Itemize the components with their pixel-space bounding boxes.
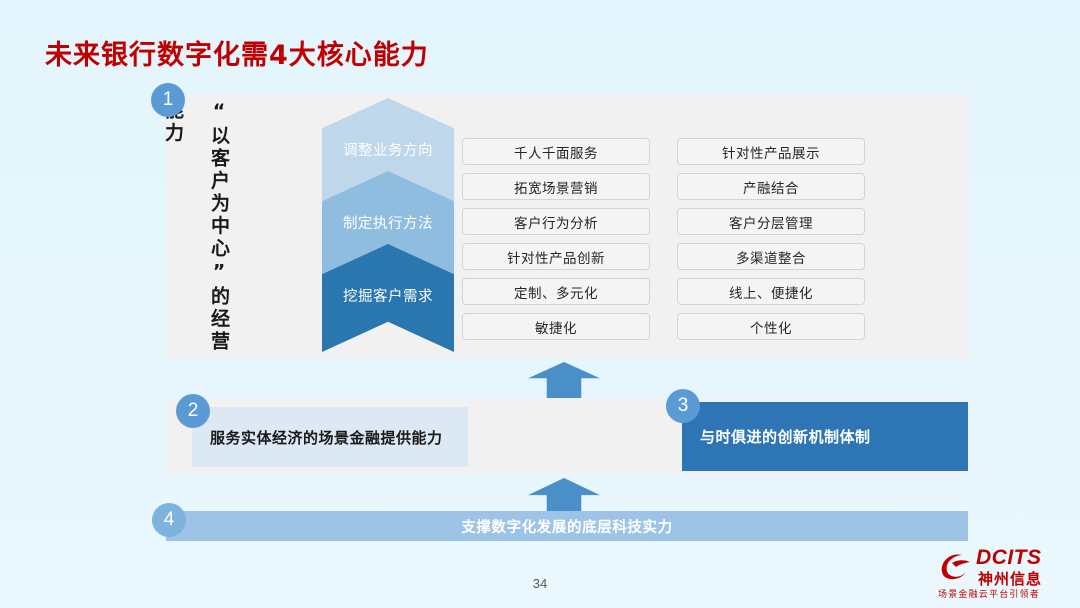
up-arrow-icon-middle bbox=[528, 362, 600, 398]
section2-label: 服务实体经济的场景金融提供能力 bbox=[210, 427, 443, 448]
capability-pill: 拓宽场景营销 bbox=[462, 173, 650, 200]
capability-pill: 针对性产品创新 bbox=[462, 243, 650, 270]
page-title: 未来银行数字化需4大核心能力 bbox=[45, 33, 429, 72]
dcits-logo: DCITS 神州信息 场景金融云平台引领者 bbox=[936, 544, 1068, 600]
slide-canvas: 未来银行数字化需4大核心能力 1 “以客户为中心”的经营能力 调整业务方向 制定… bbox=[0, 0, 1080, 608]
capability-column-right: 针对性产品展示 产融结合 客户分层管理 多渠道整合 线上、便捷化 个性化 bbox=[677, 138, 865, 348]
capability-pill: 个性化 bbox=[677, 313, 865, 340]
capability-pill: 针对性产品展示 bbox=[677, 138, 865, 165]
page-number: 34 bbox=[0, 576, 1080, 591]
capability-pill: 线上、便捷化 bbox=[677, 278, 865, 305]
section2-card: 服务实体经济的场景金融提供能力 bbox=[192, 407, 468, 467]
section1-badge: 1 bbox=[151, 83, 185, 117]
capability-column-left: 千人千面服务 拓宽场景营销 客户行为分析 针对性产品创新 定制、多元化 敏捷化 bbox=[462, 138, 650, 348]
section3-card: 与时俱进的创新机制体制 bbox=[682, 402, 968, 471]
section4-bar: 支撑数字化发展的底层科技实力 bbox=[166, 511, 968, 541]
capability-pill: 敏捷化 bbox=[462, 313, 650, 340]
chevron-step-3-label: 挖掘客户需求 bbox=[343, 285, 433, 306]
section4-badge: 4 bbox=[152, 503, 186, 537]
capability-pill: 多渠道整合 bbox=[677, 243, 865, 270]
chevron-step-1-label: 调整业务方向 bbox=[343, 139, 433, 160]
swoosh-icon bbox=[938, 550, 972, 580]
capability-pill: 客户分层管理 bbox=[677, 208, 865, 235]
section4-label: 支撑数字化发展的底层科技实力 bbox=[461, 516, 672, 537]
section1-vertical-headline: “以客户为中心”的经营能力 bbox=[196, 100, 242, 358]
section3-label: 与时俱进的创新机制体制 bbox=[700, 426, 871, 447]
capability-pill: 千人千面服务 bbox=[462, 138, 650, 165]
capability-pill: 产融结合 bbox=[677, 173, 865, 200]
logo-tagline: 场景金融云平台引领者 bbox=[938, 587, 1040, 600]
capability-pill: 客户行为分析 bbox=[462, 208, 650, 235]
logo-name-en: DCITS bbox=[976, 546, 1042, 570]
section3-badge: 3 bbox=[666, 389, 700, 423]
logo-name-cn: 神州信息 bbox=[978, 568, 1042, 589]
capability-pill: 定制、多元化 bbox=[462, 278, 650, 305]
chevron-stack: 调整业务方向 制定执行方法 挖掘客户需求 bbox=[322, 98, 454, 352]
section2-badge: 2 bbox=[176, 394, 210, 428]
chevron-step-2-label: 制定执行方法 bbox=[343, 212, 433, 233]
